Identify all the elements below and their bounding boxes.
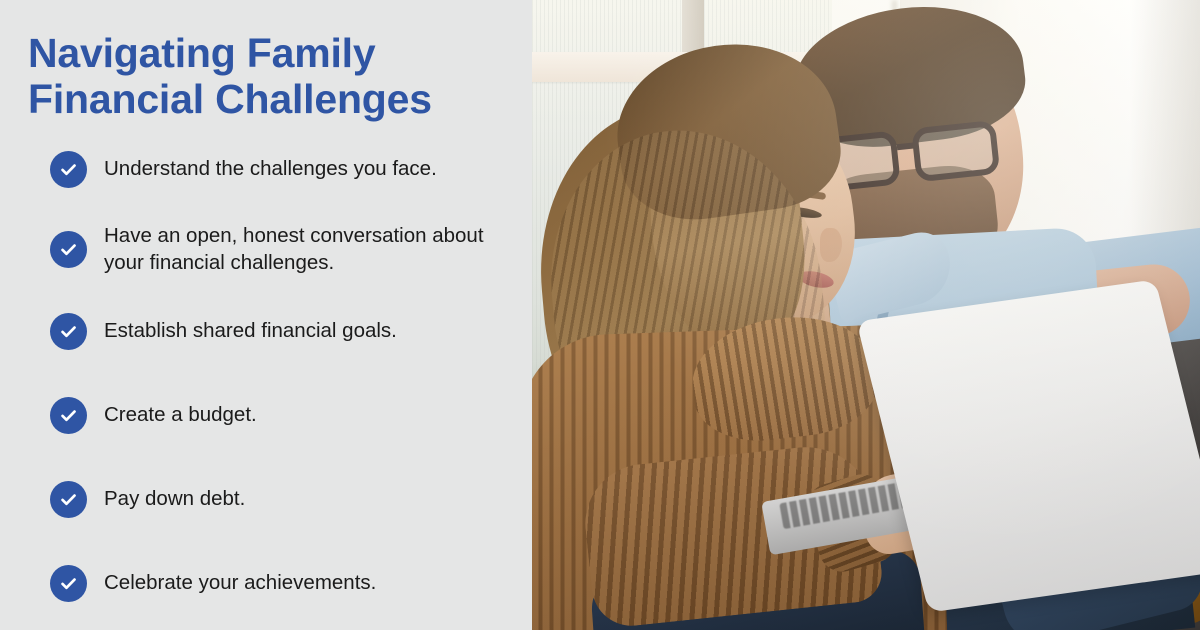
left-content-panel: Navigating Family Financial Challenges U… [0, 0, 532, 630]
check-circle-icon [50, 151, 87, 188]
list-item-label: Establish shared financial goals. [104, 318, 397, 345]
list-item-label: Create a budget. [104, 402, 257, 429]
check-circle-icon [50, 481, 87, 518]
checklist: Understand the challenges you face. Have… [28, 143, 512, 611]
infographic-canvas: Navigating Family Financial Challenges U… [0, 0, 1200, 630]
couple-with-laptop-photo [532, 0, 1200, 630]
glasses-right-lens [911, 120, 1000, 182]
list-item: Pay down debt. [28, 473, 512, 527]
check-circle-icon [50, 565, 87, 602]
list-item: Understand the challenges you face. [28, 143, 512, 197]
title-line-1: Navigating Family [28, 30, 508, 76]
list-item-label: Celebrate your achievements. [104, 570, 376, 597]
list-item: Have an open, honest conversation about … [28, 223, 512, 277]
list-item-label: Understand the challenges you face. [104, 156, 437, 183]
list-item: Create a budget. [28, 389, 512, 443]
list-item: Establish shared financial goals. [28, 305, 512, 359]
list-item-label: Have an open, honest conversation about … [104, 223, 500, 276]
check-circle-icon [50, 313, 87, 350]
list-item: Celebrate your achievements. [28, 557, 512, 611]
title-line-2: Financial Challenges [28, 76, 508, 122]
page-title: Navigating Family Financial Challenges [28, 30, 508, 123]
check-circle-icon [50, 231, 87, 268]
check-circle-icon [50, 397, 87, 434]
list-item-label: Pay down debt. [104, 486, 245, 513]
